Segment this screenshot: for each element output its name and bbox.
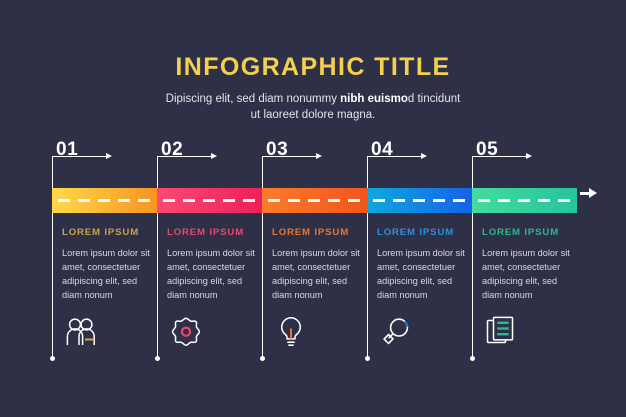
step-heading: LOREM IPSUM <box>272 227 349 238</box>
bar-dashes <box>268 199 361 202</box>
bar-dashes <box>58 199 151 202</box>
step-body-text: Lorem ipsum dolor sit amet, consectetuer… <box>482 247 570 303</box>
step-color-bar <box>157 188 262 213</box>
bar-dashes <box>478 199 571 202</box>
subtitle-text-1: Dipiscing elit, sed diam nonummy <box>166 93 341 105</box>
step-end-dot <box>50 356 55 361</box>
step-end-dot <box>155 356 160 361</box>
step-vertical-line <box>262 156 263 359</box>
gear-icon <box>169 315 203 349</box>
step-item-04[interactable]: 04 LOREM IPSUM Lorem ipsum dolor sit ame… <box>367 143 472 373</box>
page-title: INFOGRAPHIC TITLE <box>0 54 626 82</box>
step-body-text: Lorem ipsum dolor sit amet, consectetuer… <box>272 247 360 303</box>
step-body-text: Lorem ipsum dolor sit amet, consectetuer… <box>377 247 465 303</box>
step-heading: LOREM IPSUM <box>167 227 244 238</box>
step-item-02[interactable]: 02 LOREM IPSUM Lorem ipsum dolor sit ame… <box>157 143 262 373</box>
header: INFOGRAPHIC TITLE Dipiscing elit, sed di… <box>0 54 626 124</box>
step-color-bar <box>262 188 367 213</box>
users-icon <box>64 315 98 349</box>
step-vertical-line <box>52 156 53 359</box>
step-item-05[interactable]: 05 LOREM IPSUM Lorem ipsum dolor sit ame… <box>472 143 577 373</box>
page-subtitle: Dipiscing elit, sed diam nonummy nibh eu… <box>0 91 626 124</box>
step-arrow-icon <box>157 156 219 165</box>
step-body-text: Lorem ipsum dolor sit amet, consectetuer… <box>62 247 150 303</box>
step-color-bar <box>367 188 472 213</box>
subtitle-line-2: ut laoreet dolore magna. <box>251 109 376 121</box>
step-heading: LOREM IPSUM <box>377 227 454 238</box>
step-end-dot <box>470 356 475 361</box>
step-body-text: Lorem ipsum dolor sit amet, consectetuer… <box>167 247 255 303</box>
timeline-end-arrow-icon <box>580 188 597 198</box>
step-vertical-line <box>472 156 473 359</box>
step-arrow-icon <box>52 156 114 165</box>
step-arrow-icon <box>367 156 429 165</box>
step-color-bar <box>52 188 157 213</box>
bar-dashes <box>373 199 466 202</box>
infographic-canvas: INFOGRAPHIC TITLE Dipiscing elit, sed di… <box>0 0 626 417</box>
step-arrow-icon <box>472 156 534 165</box>
bar-dashes <box>163 199 256 202</box>
step-color-bar <box>472 188 577 213</box>
lightbulb-icon <box>274 315 308 349</box>
subtitle-text-2: d tincidunt <box>408 93 460 105</box>
subtitle-bold-text: nibh euismo <box>340 93 408 105</box>
step-item-01[interactable]: 01 LOREM IPSUM Lorem ipsum dolor sit ame… <box>52 143 157 373</box>
step-heading: LOREM IPSUM <box>62 227 139 238</box>
steps-timeline: 01 LOREM IPSUM Lorem ipsum dolor sit ame… <box>52 143 580 373</box>
step-vertical-line <box>157 156 158 359</box>
step-heading: LOREM IPSUM <box>482 227 559 238</box>
step-end-dot <box>260 356 265 361</box>
step-item-03[interactable]: 03 LOREM IPSUM Lorem ipsum dolor sit ame… <box>262 143 367 373</box>
step-arrow-icon <box>262 156 324 165</box>
document-list-icon <box>484 315 518 349</box>
magnifier-icon <box>379 315 413 349</box>
step-end-dot <box>365 356 370 361</box>
step-vertical-line <box>367 156 368 359</box>
